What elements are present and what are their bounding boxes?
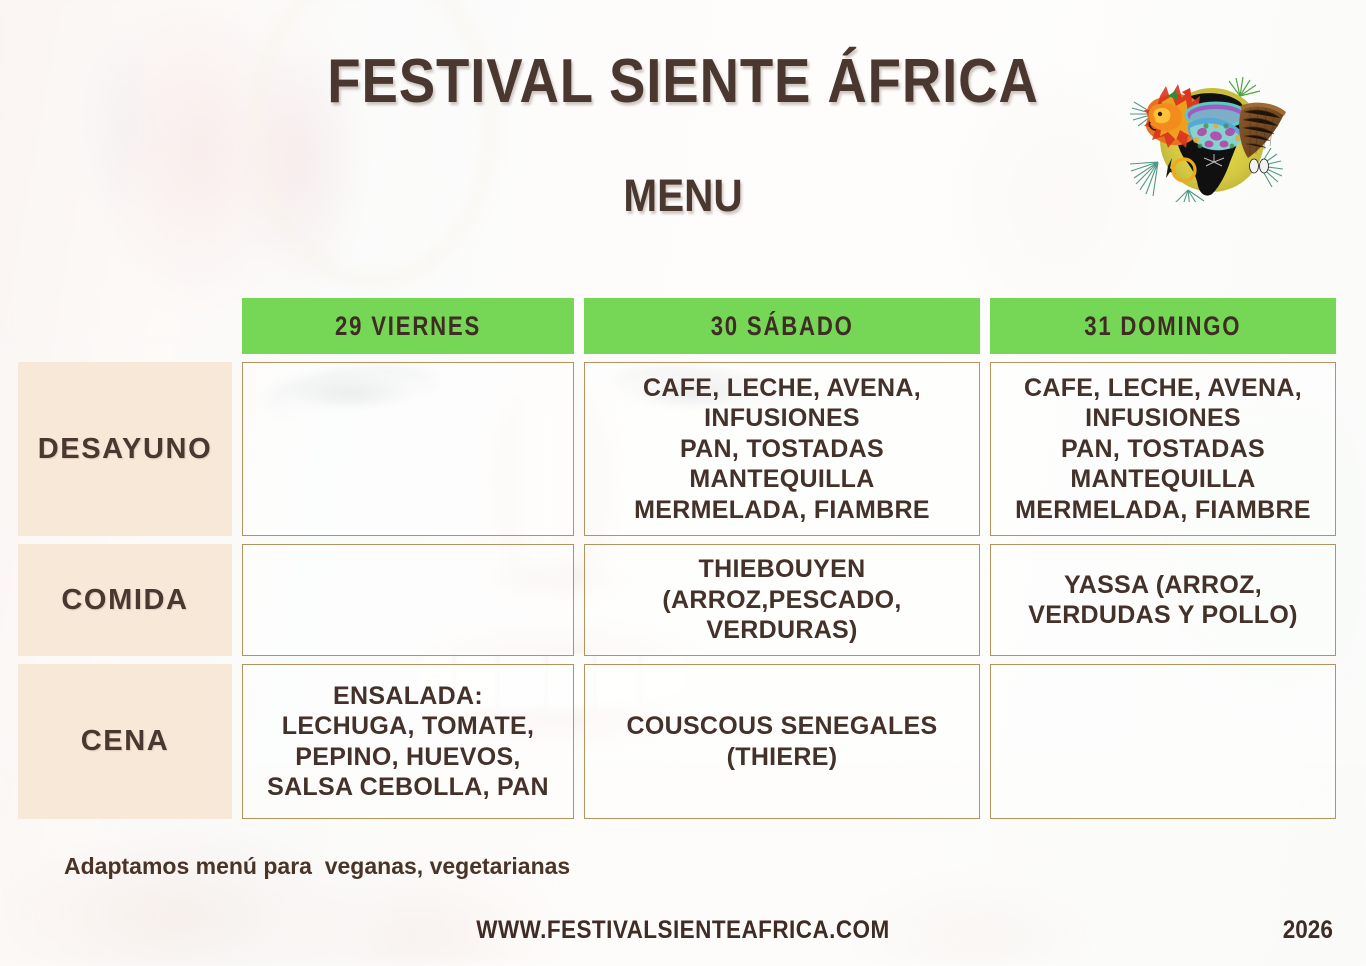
cell-comida-domingo[interactable]: YASSA (ARROZ, VERDUDAS Y POLLO): [990, 544, 1336, 656]
day-header-sunday[interactable]: 31 DOMINGO: [990, 298, 1336, 354]
cell-comida-viernes[interactable]: [242, 544, 574, 656]
website-url[interactable]: WWW.FESTIVALSIENTEAFRICA.COM: [68, 916, 1297, 945]
cell-cena-sabado[interactable]: COUSCOUS SENEGALES (THIERE): [584, 664, 980, 819]
table-row-desayuno: DESAYUNO CAFE, LECHE, AVENA, INFUSIONES …: [18, 362, 1338, 536]
festival-logo-icon: [1128, 62, 1298, 202]
table-row-cena: CENA ENSALADA: LECHUGA, TOMATE, PEPINO, …: [18, 664, 1338, 819]
day-header-friday[interactable]: 29 VIERNES: [242, 298, 574, 354]
dietary-note: Adaptamos menú para veganas, vegetariana…: [64, 853, 570, 880]
cell-cena-viernes[interactable]: ENSALADA: LECHUGA, TOMATE, PEPINO, HUEVO…: [242, 664, 574, 819]
table-header-row: 29 VIERNES 30 SÁBADO 31 DOMINGO: [18, 298, 1338, 354]
header-corner-spacer: [18, 298, 232, 354]
row-label-desayuno: DESAYUNO: [18, 362, 232, 536]
row-label-comida: COMIDA: [18, 544, 232, 656]
menu-table: 29 VIERNES 30 SÁBADO 31 DOMINGO DESAYUNO…: [18, 298, 1338, 819]
page-title: FESTIVAL SIENTE ÁFRICA: [82, 46, 1284, 117]
menu-poster: FESTIVAL SIENTE ÁFRICA MENU: [0, 0, 1366, 966]
page-subtitle: MENU: [68, 170, 1297, 222]
table-row-comida: COMIDA THIEBOUYEN (ARROZ,PESCADO, VERDUR…: [18, 544, 1338, 656]
row-label-cena: CENA: [18, 664, 232, 819]
year-label: 2026: [1283, 916, 1333, 945]
cell-desayuno-sabado[interactable]: CAFE, LECHE, AVENA, INFUSIONES PAN, TOST…: [584, 362, 980, 536]
day-header-sunday-label: 31 DOMINGO: [1084, 298, 1241, 354]
cell-comida-sabado[interactable]: THIEBOUYEN (ARROZ,PESCADO, VERDURAS): [584, 544, 980, 656]
day-header-saturday-label: 30 SÁBADO: [711, 298, 854, 354]
day-header-friday-label: 29 VIERNES: [335, 298, 481, 354]
festival-logo: [1128, 62, 1298, 202]
cell-cena-domingo[interactable]: [990, 664, 1336, 819]
cell-desayuno-domingo[interactable]: CAFE, LECHE, AVENA, INFUSIONES PAN, TOST…: [990, 362, 1336, 536]
cell-desayuno-viernes[interactable]: [242, 362, 574, 536]
day-header-saturday[interactable]: 30 SÁBADO: [584, 298, 980, 354]
